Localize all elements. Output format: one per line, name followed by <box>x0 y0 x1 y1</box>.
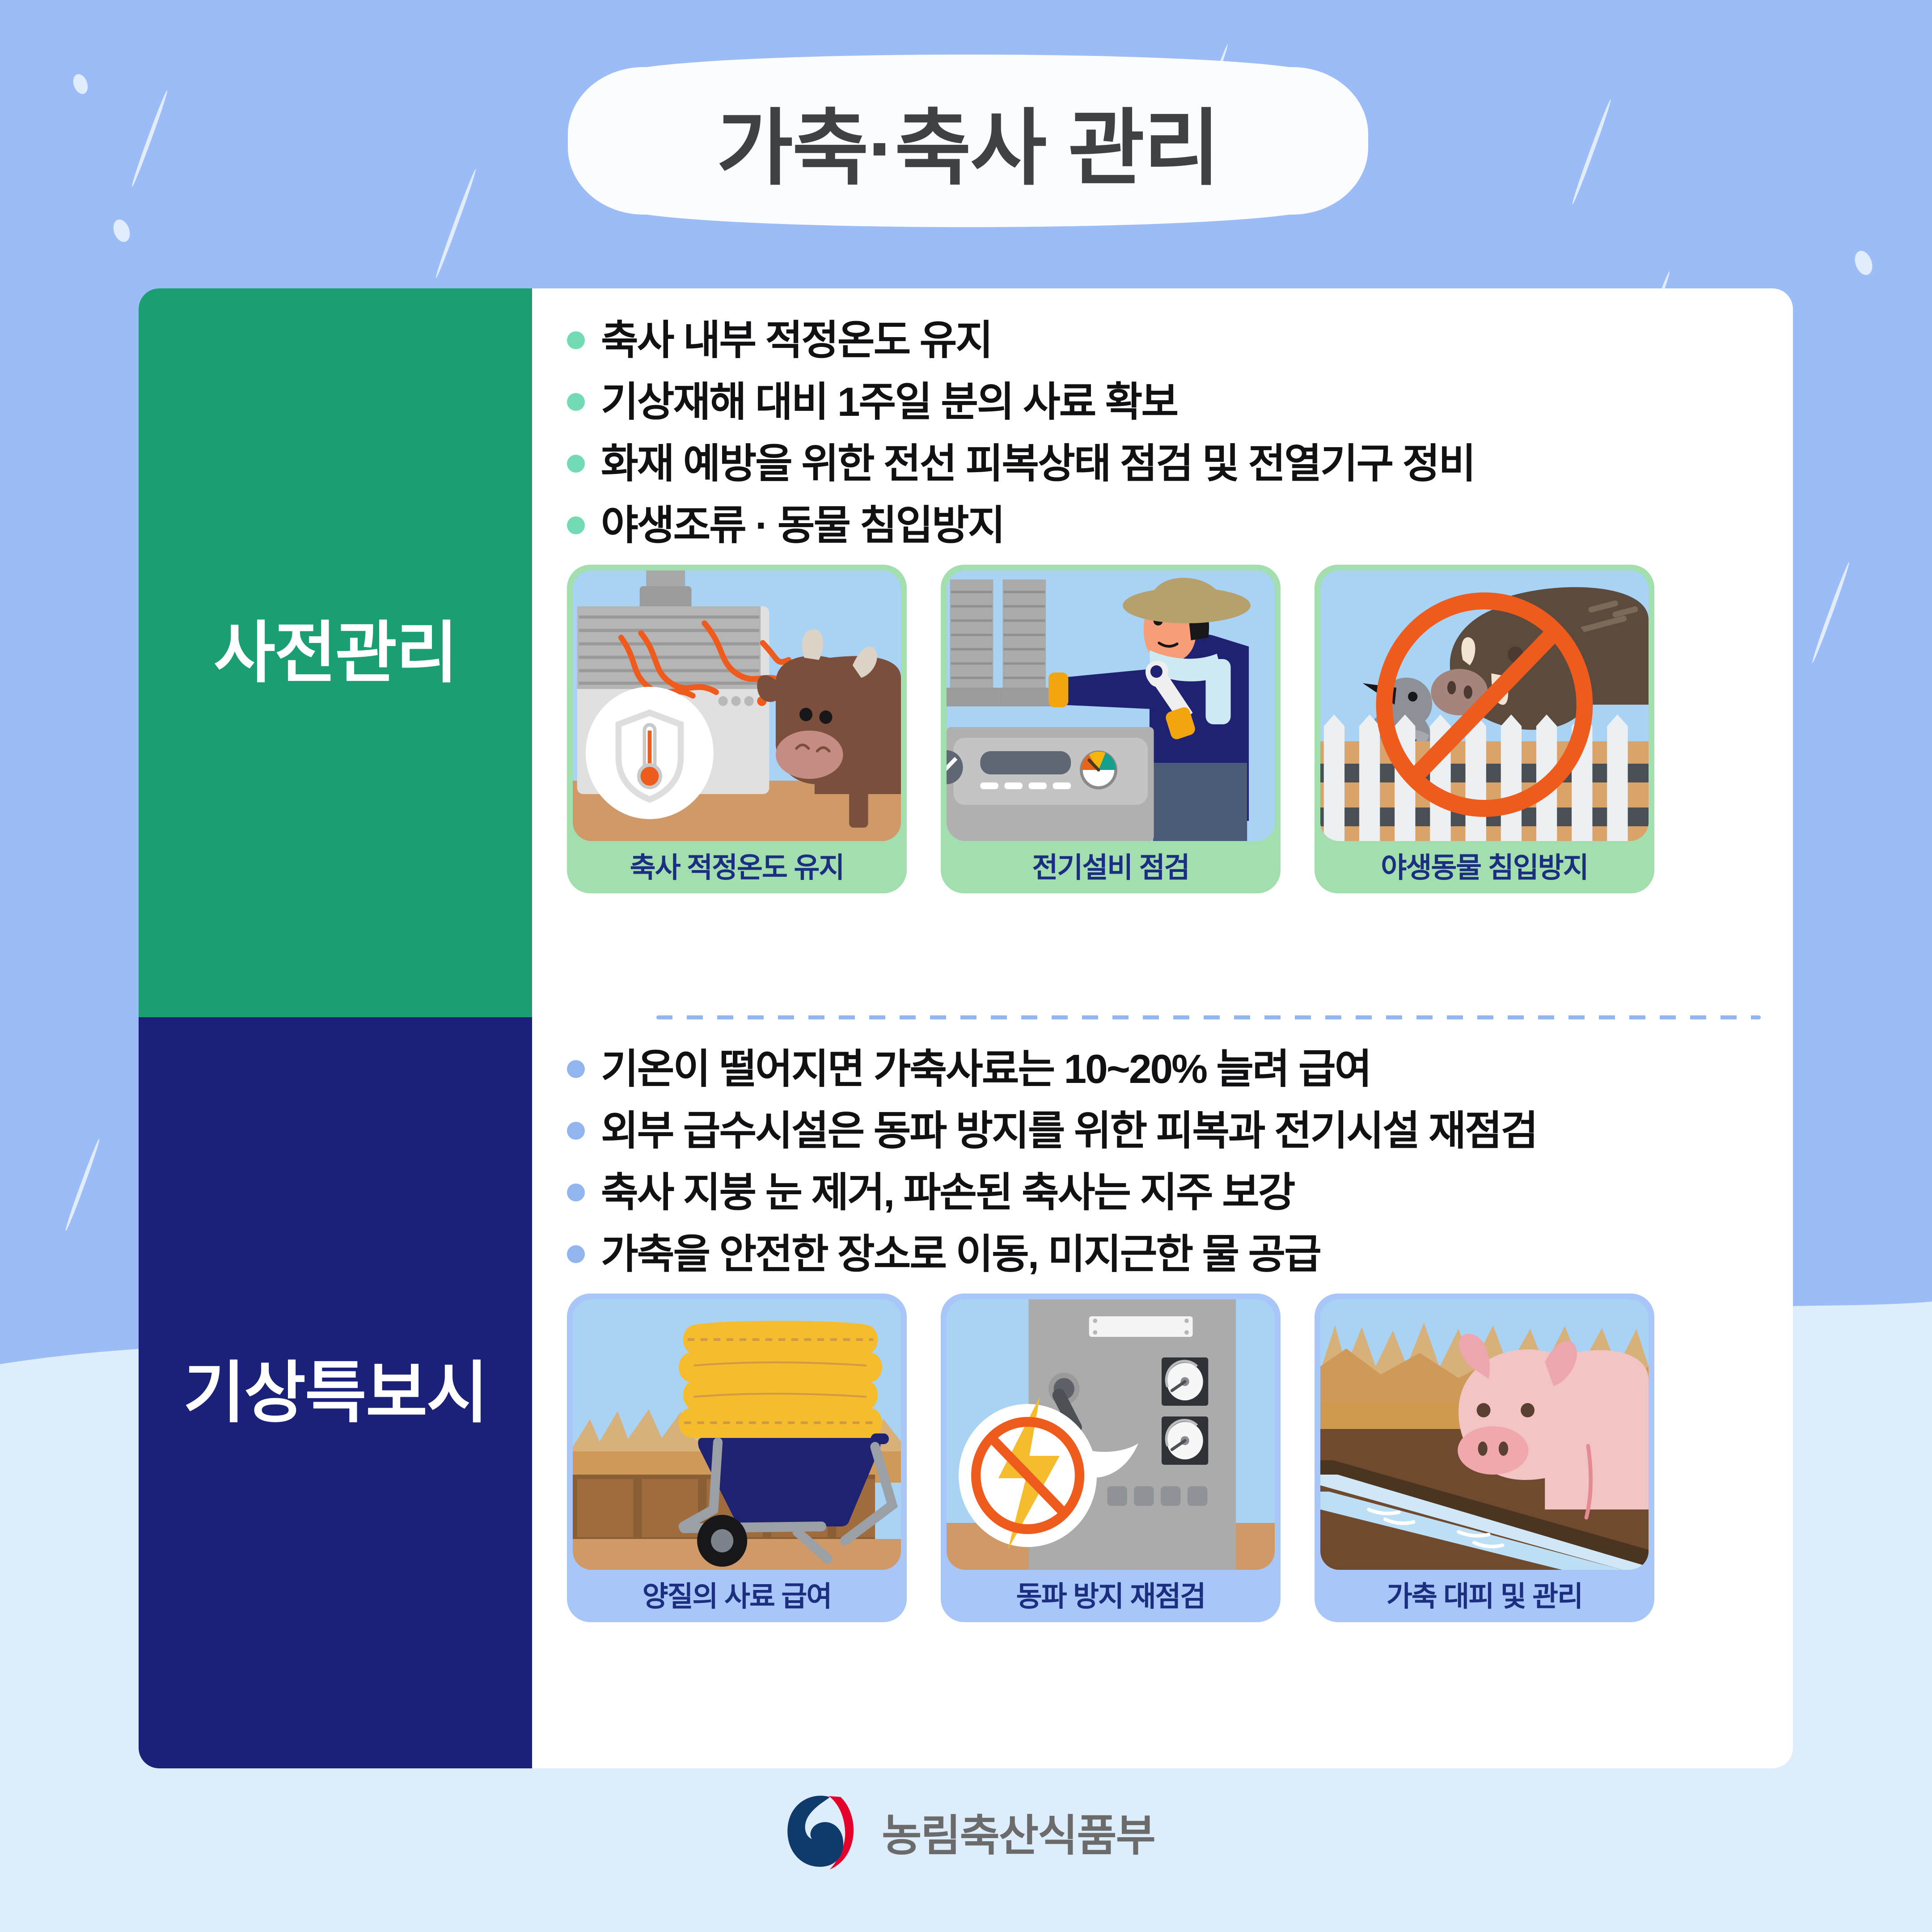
thumb-caption: 축사 적정온도 유지 <box>567 841 907 893</box>
section-label-text-line2: 특보시 <box>305 1354 487 1432</box>
korea-government-taegeuk-logo <box>777 1789 862 1874</box>
thumb-livestock-evacuation[interactable]: 가축 대피 및 관리 <box>1315 1294 1654 1622</box>
bullet-text: 야생조류 · 동물 침입방지 <box>601 503 1004 549</box>
thumb-caption: 전기설비 점검 <box>941 841 1281 893</box>
bullet-text: 화재 예방을 위한 전선 피복상태 점검 및 전열기구 정비 <box>601 441 1475 487</box>
bullet-text: 외부 급수시설은 동파 방지를 위한 피복과 전기시설 재점검 <box>601 1108 1537 1154</box>
section-label-weather-alert: 기상 특보시 <box>139 1017 532 1768</box>
thumb-quality-feed[interactable]: 양질의 사료 급여 <box>567 1294 907 1622</box>
list-item: 기온이 떨어지면 가축사료는 10~20% 늘려 급여 <box>567 1047 1793 1092</box>
thumb-heater-cow[interactable]: 축사 적정온도 유지 <box>567 565 907 893</box>
section-body-weather-alert: 기온이 떨어지면 가축사료는 10~20% 늘려 급여 외부 급수시설은 동파 … <box>532 1017 1793 1768</box>
pig-water-trough-icon <box>1320 1299 1649 1570</box>
thumb-caption: 가축 대피 및 관리 <box>1315 1570 1654 1622</box>
wild-animal-prohibited-icon <box>1320 571 1649 841</box>
thumb-electric-inspection[interactable]: 전기설비 점검 <box>941 565 1281 893</box>
thumbnail-row-weather-alert: 양질의 사료 급여 <box>567 1294 1793 1622</box>
ministry-name: 농림축산식품부 <box>882 1800 1155 1863</box>
thumb-caption: 동파 방지 재점검 <box>941 1570 1281 1622</box>
list-item: 야생조류 · 동물 침입방지 <box>567 503 1793 549</box>
thumbnail-row-pre-management: 축사 적정온도 유지 <box>567 565 1793 893</box>
bullet-list-weather-alert: 기온이 떨어지면 가축사료는 10~20% 늘려 급여 외부 급수시설은 동파 … <box>567 1017 1793 1277</box>
list-item: 가축을 안전한 장소로 이동, 미지근한 물 공급 <box>567 1232 1793 1277</box>
bullet-dot-icon <box>567 393 585 411</box>
thumb-caption: 야생동물 침입방지 <box>1315 841 1654 893</box>
wheelbarrow-feed-icon <box>573 1299 901 1570</box>
bullet-text: 축사 지붕 눈 제거, 파손된 축사는 지주 보강 <box>601 1170 1294 1216</box>
heater-cow-icon <box>573 571 901 841</box>
sleet-streak-icon <box>1810 562 1851 664</box>
bullet-dot-icon <box>567 1245 585 1263</box>
bullet-text: 가축을 안전한 장소로 이동, 미지근한 물 공급 <box>601 1232 1320 1277</box>
section-label-text-line1: 기상 <box>183 1354 305 1432</box>
thumb-wild-animal-prevention[interactable]: 야생동물 침입방지 <box>1315 565 1654 893</box>
bullet-dot-icon <box>567 1184 585 1201</box>
list-item: 외부 급수시설은 동파 방지를 위한 피복과 전기시설 재점검 <box>567 1108 1793 1154</box>
list-item: 축사 지붕 눈 제거, 파손된 축사는 지주 보강 <box>567 1170 1793 1216</box>
no-electricity-panel-icon <box>947 1299 1275 1570</box>
section-body-pre-management: 축사 내부 적정온도 유지 기상재해 대비 1주일 분의 사료 확보 화재 예방… <box>532 288 1793 1017</box>
section-label-pre-management: 사전관리 <box>139 288 532 1017</box>
section-weather-alert: 기상 특보시 기온이 떨어지면 가축사료는 10~20% 늘려 급여 외부 급수… <box>139 1017 1793 1768</box>
bullet-dot-icon <box>567 1060 585 1078</box>
bullet-dot-icon <box>567 1122 585 1140</box>
footer: 농림축산식품부 <box>0 1789 1932 1874</box>
snowflake-icon <box>71 72 90 96</box>
sleet-streak-icon <box>130 89 169 187</box>
page-title-badge: 가축·축사 관리 <box>568 67 1368 215</box>
bullet-list-pre-management: 축사 내부 적정온도 유지 기상재해 대비 1주일 분의 사료 확보 화재 예방… <box>567 288 1793 549</box>
snowflake-icon <box>1821 1733 1844 1761</box>
sleet-streak-icon <box>64 1138 101 1232</box>
list-item: 축사 내부 적정온도 유지 <box>567 318 1793 364</box>
bullet-text: 축사 내부 적정온도 유지 <box>601 318 992 364</box>
sleet-streak-icon <box>1571 99 1613 205</box>
list-item: 기상재해 대비 1주일 분의 사료 확보 <box>567 380 1793 425</box>
bullet-dot-icon <box>567 331 585 349</box>
sleet-streak-icon <box>1852 1335 1890 1433</box>
section-label-text: 사전관리 <box>214 614 457 692</box>
content-card: 사전관리 축사 내부 적정온도 유지 기상재해 대비 1주일 분의 사료 확보 … <box>139 288 1793 1768</box>
bullet-dot-icon <box>567 516 585 534</box>
farmer-wrench-panel-icon <box>947 571 1275 841</box>
section-divider <box>656 1015 1761 1019</box>
bullet-text: 기상재해 대비 1주일 분의 사료 확보 <box>601 380 1177 425</box>
bullet-dot-icon <box>567 455 585 473</box>
thumb-freeze-prevention[interactable]: 동파 방지 재점검 <box>941 1294 1281 1622</box>
sleet-streak-icon <box>434 168 478 279</box>
bullet-text: 기온이 떨어지면 가축사료는 10~20% 늘려 급여 <box>601 1047 1370 1092</box>
snowflake-icon <box>1852 249 1876 278</box>
snowflake-icon <box>50 1563 71 1589</box>
list-item: 화재 예방을 위한 전선 피복상태 점검 및 전열기구 정비 <box>567 441 1793 487</box>
thumb-caption: 양질의 사료 급여 <box>567 1570 907 1622</box>
snowflake-icon <box>110 217 133 244</box>
page-title: 가축·축사 관리 <box>717 80 1219 201</box>
section-pre-management: 사전관리 축사 내부 적정온도 유지 기상재해 대비 1주일 분의 사료 확보 … <box>139 288 1793 1017</box>
